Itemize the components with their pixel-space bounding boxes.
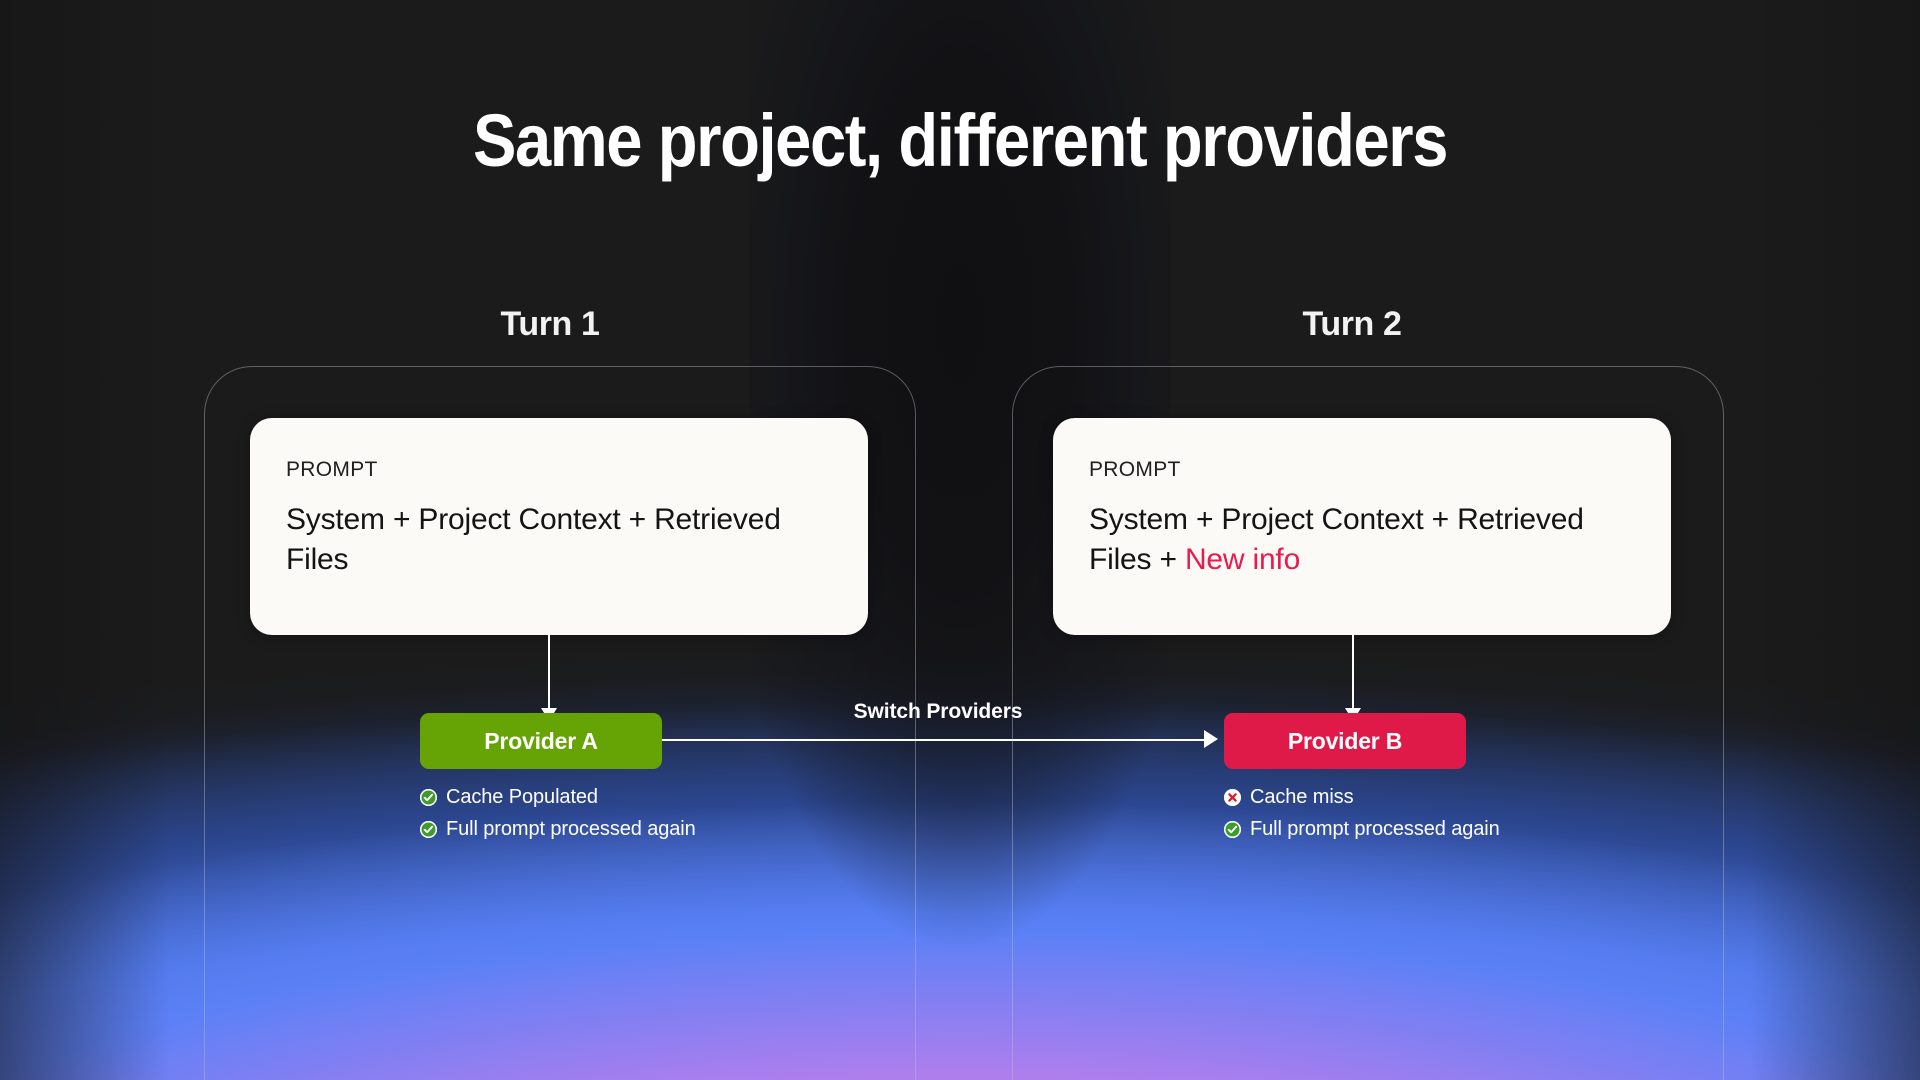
check-circle-icon — [420, 789, 437, 806]
x-circle-icon — [1224, 789, 1241, 806]
turn-2-label: Turn 2 — [1202, 305, 1502, 344]
prompt-body: System + Project Context + Retrieved Fil… — [286, 500, 832, 579]
status-item: Full prompt processed again — [420, 818, 840, 841]
provider-b-label: Provider B — [1288, 728, 1402, 755]
provider-b-button[interactable]: Provider B — [1224, 713, 1466, 769]
status-label: Full prompt processed again — [1250, 818, 1500, 841]
turn-1-label: Turn 1 — [400, 305, 700, 344]
check-circle-icon — [1224, 821, 1241, 838]
prompt-card-turn-1: PROMPT System + Project Context + Retrie… — [250, 418, 868, 635]
provider-a-label: Provider A — [484, 728, 597, 755]
status-item: Cache Populated — [420, 786, 840, 809]
status-item: Full prompt processed again — [1224, 818, 1644, 841]
prompt-body-text: System + Project Context + Retrieved Fil… — [286, 503, 781, 576]
status-label: Cache miss — [1250, 786, 1353, 809]
status-label: Full prompt processed again — [446, 818, 696, 841]
page-title: Same project, different providers — [115, 104, 1805, 178]
prompt-highlight-new-info: New info — [1185, 543, 1300, 576]
status-list-turn-1: Cache Populated Full prompt processed ag… — [420, 786, 840, 850]
switch-providers-label: Switch Providers — [662, 700, 1214, 724]
status-list-turn-2: Cache miss Full prompt processed again — [1224, 786, 1644, 850]
prompt-to-provider-arrow-1 — [548, 635, 550, 720]
status-item: Cache miss — [1224, 786, 1644, 809]
arrow-head-right-icon — [1204, 730, 1218, 748]
prompt-card-turn-2: PROMPT System + Project Context + Retrie… — [1053, 418, 1671, 635]
prompt-body: System + Project Context + Retrieved Fil… — [1089, 500, 1635, 579]
status-label: Cache Populated — [446, 786, 598, 809]
switch-providers-arrow-line — [662, 739, 1214, 741]
prompt-to-provider-arrow-2 — [1352, 635, 1354, 720]
prompt-kicker: PROMPT — [286, 458, 832, 482]
prompt-kicker: PROMPT — [1089, 458, 1635, 482]
check-circle-icon — [420, 821, 437, 838]
prompt-body-text: System + Project Context + Retrieved Fil… — [1089, 503, 1584, 576]
provider-a-button[interactable]: Provider A — [420, 713, 662, 769]
